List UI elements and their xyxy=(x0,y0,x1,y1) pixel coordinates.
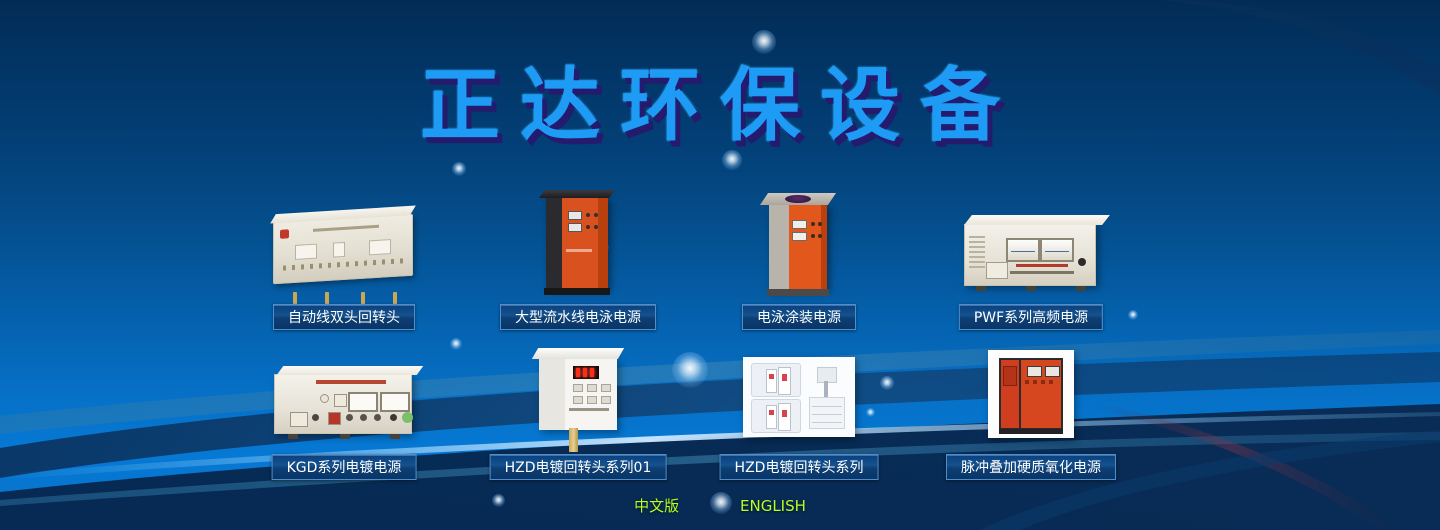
product-image-tall-orange-black-cabinet xyxy=(540,188,616,292)
product-label[interactable]: KGD系列电镀电源 xyxy=(272,454,417,480)
glow-orb xyxy=(452,162,466,176)
glow-orb xyxy=(722,150,742,170)
product-label[interactable]: 脉冲叠加硬质氧化电源 xyxy=(946,454,1116,480)
glow-orb xyxy=(752,30,776,54)
product-tile[interactable]: KGD系列电镀电源 xyxy=(254,350,434,480)
language-link-chinese[interactable]: 中文版 xyxy=(634,495,679,516)
language-links: 中文版 ENGLISH xyxy=(0,495,1440,516)
product-image-bench-power-supply xyxy=(960,212,1102,292)
product-label[interactable]: HZD电镀回转头系列01 xyxy=(490,454,667,480)
product-label[interactable]: 自动线双头回转头 xyxy=(273,304,415,330)
language-link-english[interactable]: ENGLISH xyxy=(740,497,806,515)
page-title: 正达环保设备 xyxy=(0,66,1440,146)
product-tile[interactable]: 电泳涂装电源 xyxy=(718,195,880,330)
product-image-rotary-head-composite xyxy=(741,354,857,440)
product-label[interactable]: PWF系列高频电源 xyxy=(959,304,1103,330)
product-image-white-led-controller xyxy=(532,346,624,436)
product-tile[interactable]: 自动线双头回转头 xyxy=(254,200,434,330)
product-label[interactable]: 电泳涂装电源 xyxy=(742,304,856,330)
glow-orb xyxy=(672,352,708,388)
product-image-kgd-bench-unit xyxy=(270,362,418,442)
product-tile[interactable]: 大型流水线电泳电源 xyxy=(488,190,668,330)
product-image-red-tall-cabinet xyxy=(986,348,1076,440)
product-tile[interactable]: HZD电镀回转头系列 xyxy=(718,340,880,480)
product-label[interactable]: 大型流水线电泳电源 xyxy=(500,304,656,330)
glow-orb xyxy=(450,338,462,350)
splash-page: 正达环保设备 自动线双头回转头 xyxy=(0,0,1440,530)
glow-orb xyxy=(1128,310,1138,320)
product-tile[interactable]: 脉冲叠加硬质氧化电源 xyxy=(946,338,1116,480)
product-label[interactable]: HZD电镀回转头系列 xyxy=(720,454,879,480)
glow-orb xyxy=(880,376,894,390)
product-tile[interactable]: HZD电镀回转头系列01 xyxy=(488,345,668,480)
product-image-long-beige-cabinet xyxy=(269,206,419,292)
product-tile[interactable]: PWF系列高频电源 xyxy=(946,205,1116,330)
product-image-grey-orange-cabinet xyxy=(763,192,835,292)
